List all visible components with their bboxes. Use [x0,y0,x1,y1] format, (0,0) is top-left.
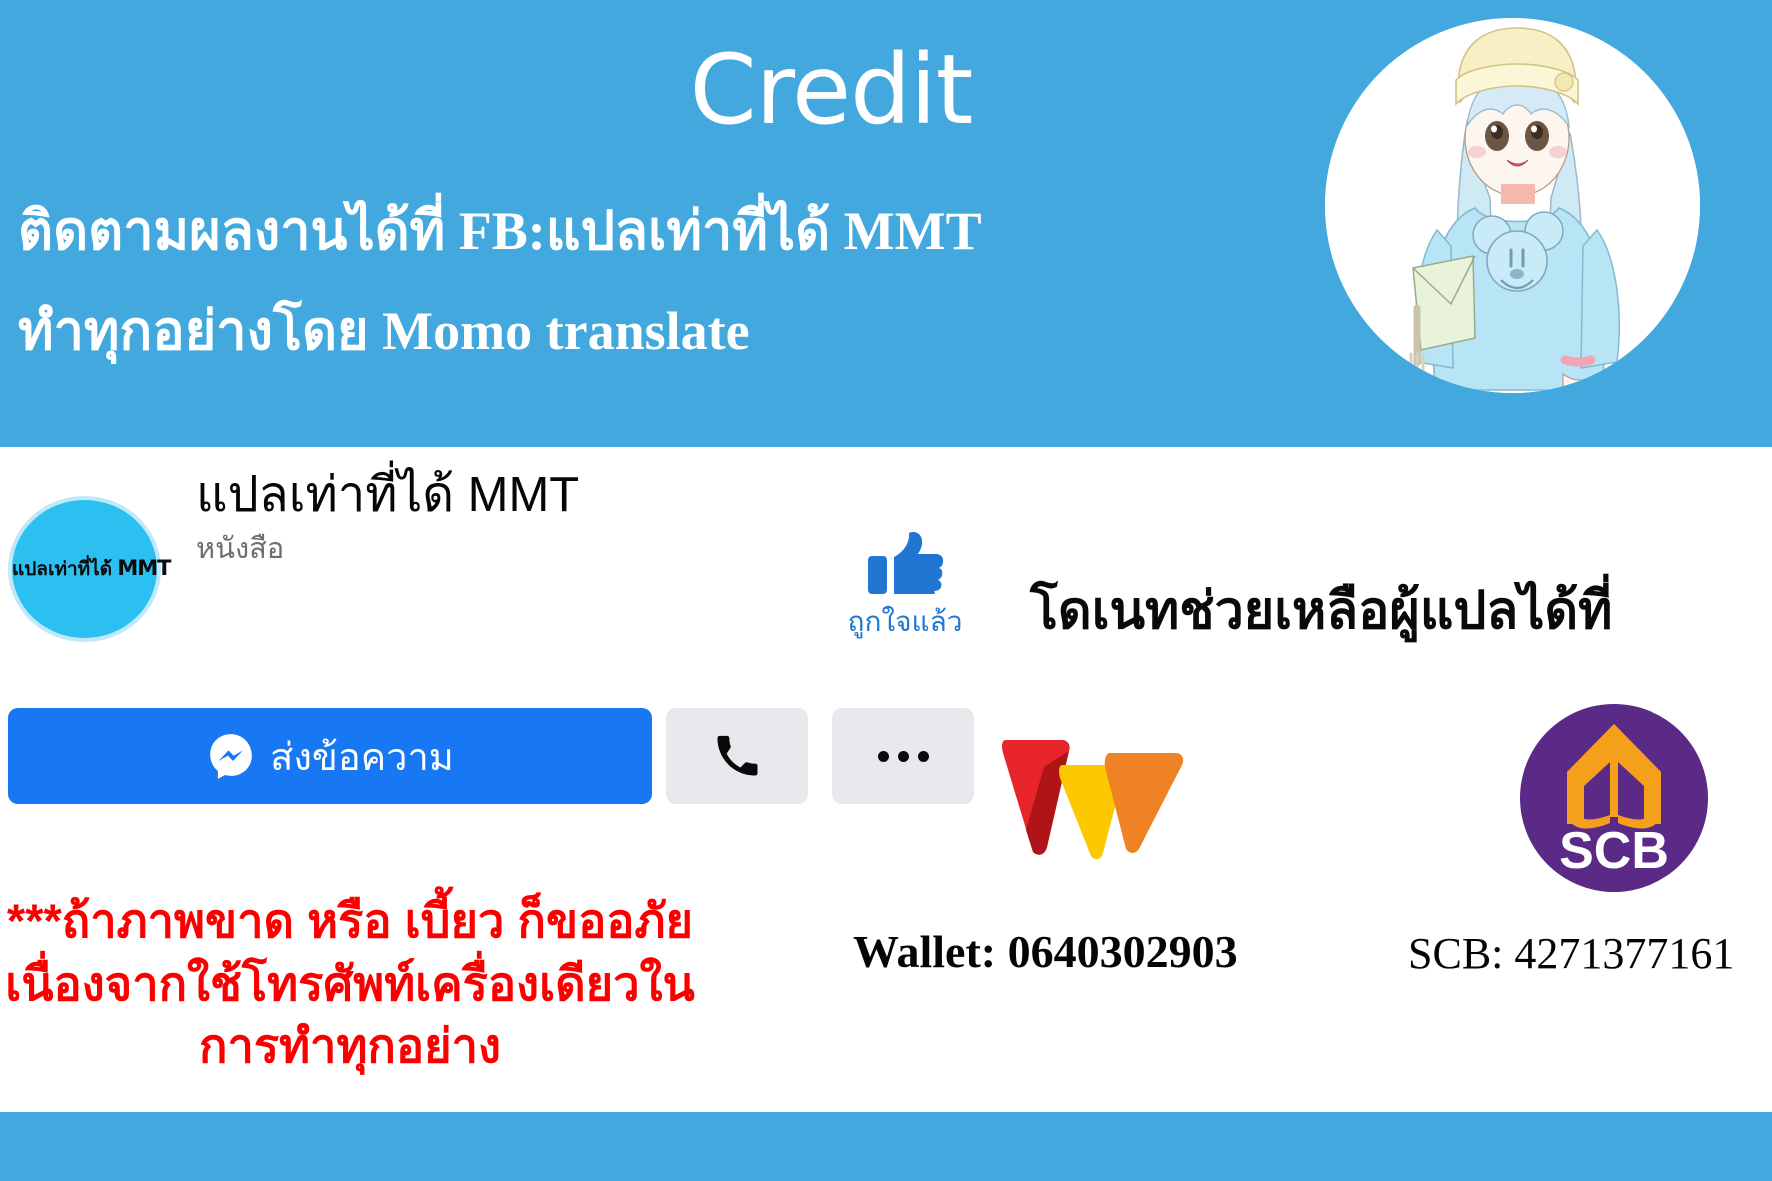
scb-number: SCB: 4271377161 [1408,928,1734,979]
disclaimer-line-1: ***ถ้าภาพขาด หรือ เบี้ยว ก็ขออภัย [0,890,700,953]
avatar [1325,18,1700,393]
credit-slide: Credit ติดตามผลงานได้ที่ FB:แปลเท่าที่ได… [0,0,1772,1181]
phone-icon [714,733,760,779]
svg-text:SCB: SCB [1559,822,1669,880]
scb-bank-logo: SCB [1518,702,1710,894]
truemoney-wallet-icon [1000,735,1185,860]
like-status[interactable]: ถูกใจแล้ว [820,530,990,644]
ellipsis-icon [878,751,929,762]
call-button[interactable] [666,708,808,804]
page-logo-thai: แปลเท่าที่ได้ [12,559,112,580]
footer-band [0,1112,1772,1181]
send-message-label: ส่งข้อความ [270,726,454,787]
wallet-number: Wallet: 0640302903 [853,925,1238,978]
more-options-button[interactable] [832,708,974,804]
header-followup-line: ติดตามผลงานได้ที่ FB:แปลเท่าที่ได้ MMT [18,200,982,262]
scb-bank-icon: SCB [1518,702,1710,894]
page-logo: แปลเท่าที่ได้ MMT [12,500,157,638]
disclaimer-line-3: การทำทุกอย่าง [0,1015,700,1078]
disclaimer-line-2: เนื่องจากใช้โทรศัพท์เครื่องเดียวใน [0,953,700,1016]
anime-girl-avatar-icon [1325,18,1700,393]
donate-heading: โดเนทช่วยเหลือผู้แปลได้ที่ [1030,568,1612,651]
page-name: แปลเท่าที่ได้ MMT [196,455,579,533]
page-logo-latin: MMT [117,556,170,580]
page-category: หนังสือ [196,525,284,571]
header-credit-line: ทำทุกอย่างโดย Momo translate [18,300,750,362]
like-label: ถูกใจแล้ว [820,600,990,644]
disclaimer-note: ***ถ้าภาพขาด หรือ เบี้ยว ก็ขออภัย เนื่อง… [0,890,700,1078]
messenger-icon [206,731,256,781]
send-message-button[interactable]: ส่งข้อความ [8,708,652,804]
truemoney-wallet-logo [1000,735,1185,860]
thumbs-up-icon [866,530,944,596]
page-logo-text: แปลเท่าที่ได้ MMT [12,554,157,584]
header-band: Credit ติดตามผลงานได้ที่ FB:แปลเท่าที่ได… [0,0,1772,447]
